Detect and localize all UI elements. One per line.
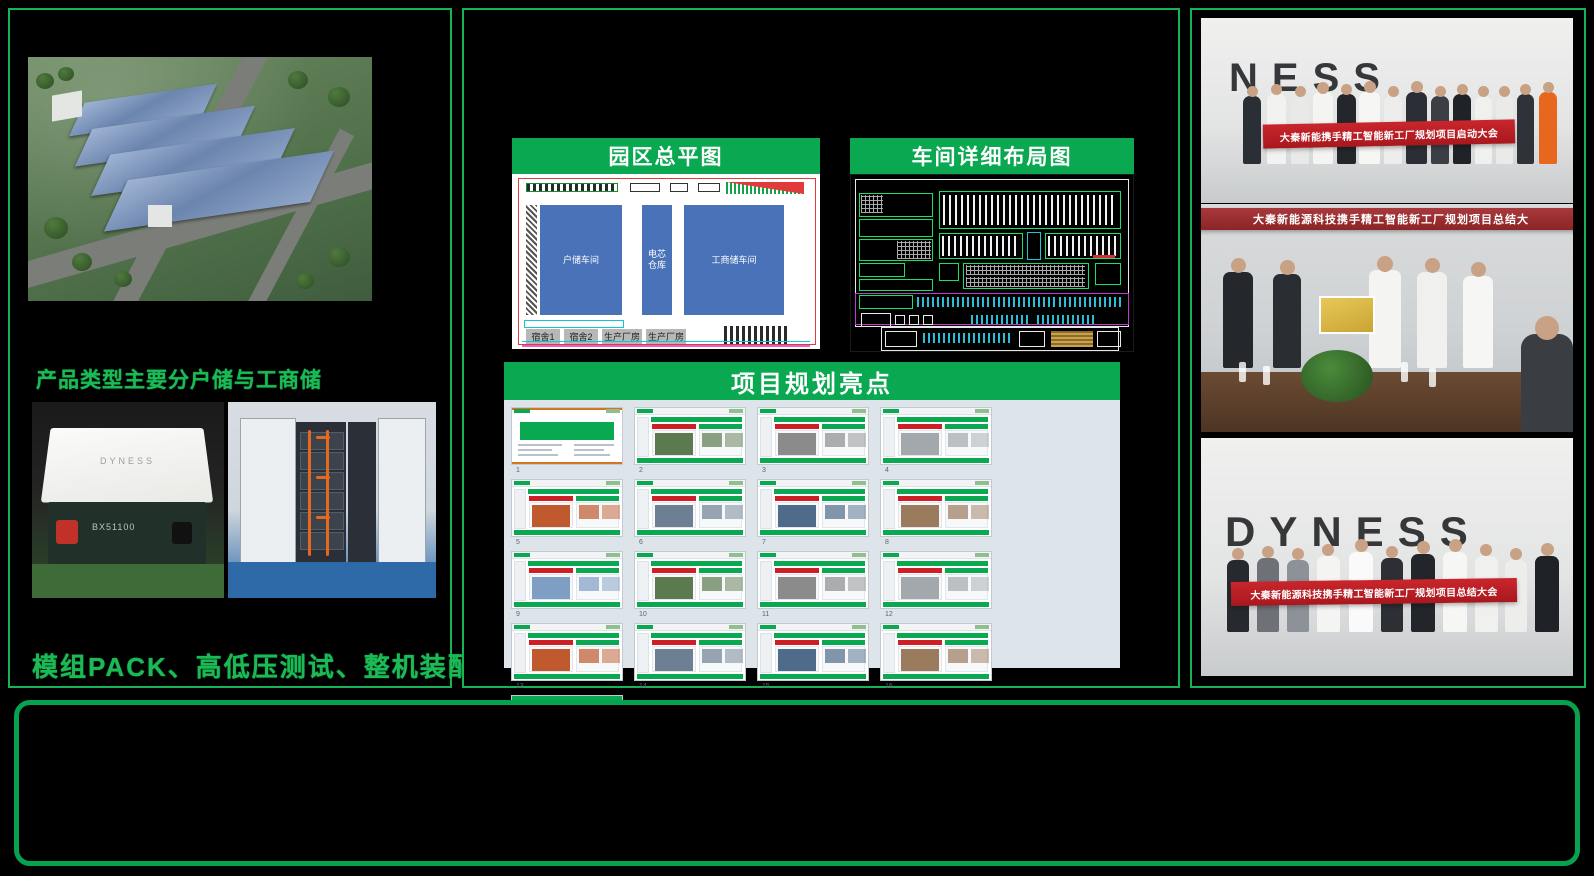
thumbnail-slide[interactable] [757,623,869,681]
thumbnail-number: 8 [880,537,999,547]
site-block-residential: 户储车间 [540,205,622,315]
thumbnail-slide[interactable] [757,479,869,537]
highlight-thumbnail[interactable]: 2 [634,407,753,475]
workshop-layout-drawing [850,174,1134,352]
factory-overview-panel: 产品类型主要分户储与工商储 DYNESS BX51100 [8,8,452,688]
highlight-thumbnail[interactable]: 9 [511,551,630,619]
award-presentation-photo: 大秦新能源科技携手精工智能新工厂规划项目总结大 [1201,204,1573,432]
thumbnail-slide[interactable] [511,479,623,537]
highlight-thumbnail[interactable]: 10 [634,551,753,619]
site-plan-card: 园区总平图 户储车间 电芯 仓库 工商储车间 宿舍1 宿舍2 生产厂房 生产厂房 [512,138,820,349]
thumbnail-slide[interactable] [757,407,869,465]
site-block-cell-warehouse: 电芯 仓库 [642,205,672,315]
highlight-thumbnail[interactable]: 6 [634,479,753,547]
thumbnail-slide[interactable] [880,479,992,537]
highlight-thumbnail[interactable]: 1 [511,407,630,475]
thumbnail-number: 10 [634,609,753,619]
commercial-cabinet-photo [228,402,436,598]
highlight-thumbnail[interactable]: 8 [880,479,999,547]
aerial-factory-render [28,57,372,301]
process-caption: 模组PACK、高低压测试、整机装配 [32,647,476,684]
product-type-caption: 产品类型主要分户储与工商储 [36,364,322,394]
thumbnail-slide[interactable] [634,407,746,465]
site-block-commercial: 工商储车间 [684,205,784,315]
thumbnail-number: 15 [757,681,876,691]
workshop-layout-card: 车间详细布局图 [850,138,1134,352]
thumbnail-slide[interactable] [757,551,869,609]
workshop-layout-title: 车间详细布局图 [850,138,1134,174]
presentation-board: 产品类型主要分户储与工商储 DYNESS BX51100 [0,0,1594,876]
highlight-thumbnail[interactable]: 12 [880,551,999,619]
thumbnail-slide[interactable] [634,479,746,537]
thumbnail-number: 16 [880,681,999,691]
thumbnail-slide[interactable] [880,551,992,609]
battery-model-text: BX51100 [92,522,135,532]
highlight-thumbnail[interactable]: 15 [757,623,876,691]
thumbnail-number: 3 [757,465,876,475]
thumbnail-number: 9 [511,609,630,619]
highlight-thumbnail[interactable]: 4 [880,407,999,475]
thumbnail-number: 6 [634,537,753,547]
kickoff-meeting-photo: NESS 大秦新能携手精工智能新工厂规划项目启动大会 [1201,18,1573,203]
highlight-thumbnail[interactable]: 3 [757,407,876,475]
residential-battery-photo: DYNESS BX51100 [32,402,224,598]
empty-notes-box[interactable] [14,700,1580,866]
thumbnail-number: 5 [511,537,630,547]
thumbnail-slide[interactable] [880,623,992,681]
highlights-thumbnail-grid[interactable]: 1234567891011121314151617 [504,400,1120,668]
thumbnail-slide[interactable] [634,623,746,681]
thumbnail-number: 4 [880,465,999,475]
thumbnail-number: 13 [511,681,630,691]
thumbnail-number: 2 [634,465,753,475]
highlight-thumbnail[interactable]: 16 [880,623,999,691]
project-highlights-title: 项目规划亮点 [504,362,1120,400]
highlight-thumbnail[interactable]: 7 [757,479,876,547]
highlight-thumbnail[interactable]: 13 [511,623,630,691]
thumbnail-slide[interactable] [880,407,992,465]
thumbnail-slide[interactable] [511,407,623,465]
thumbnail-slide[interactable] [634,551,746,609]
thumbnail-slide[interactable] [511,623,623,681]
summary-banner-text: 大秦新能源科技携手精工智能新工厂规划项目总结大会 [1231,578,1517,606]
battery-brand-text: DYNESS [100,456,155,466]
site-plan-drawing: 户储车间 电芯 仓库 工商储车间 宿舍1 宿舍2 生产厂房 生产厂房 [512,174,820,349]
summary-meeting-photo: DYNESS 大秦新能源科技携手精工智能新工厂规划项目总结大会 [1201,438,1573,676]
highlight-thumbnail[interactable]: 11 [757,551,876,619]
highlight-thumbnail[interactable]: 14 [634,623,753,691]
award-banner-text: 大秦新能源科技携手精工智能新工厂规划项目总结大 [1201,208,1573,230]
thumbnail-number: 14 [634,681,753,691]
thumbnail-number: 12 [880,609,999,619]
thumbnail-number: 7 [757,537,876,547]
thumbnail-number: 1 [511,465,630,475]
project-highlights-card: 项目规划亮点 1234567891011121314151617 [504,362,1120,668]
site-plan-title: 园区总平图 [512,138,820,174]
highlight-thumbnail[interactable]: 5 [511,479,630,547]
thumbnail-slide[interactable] [511,551,623,609]
thumbnail-number: 11 [757,609,876,619]
